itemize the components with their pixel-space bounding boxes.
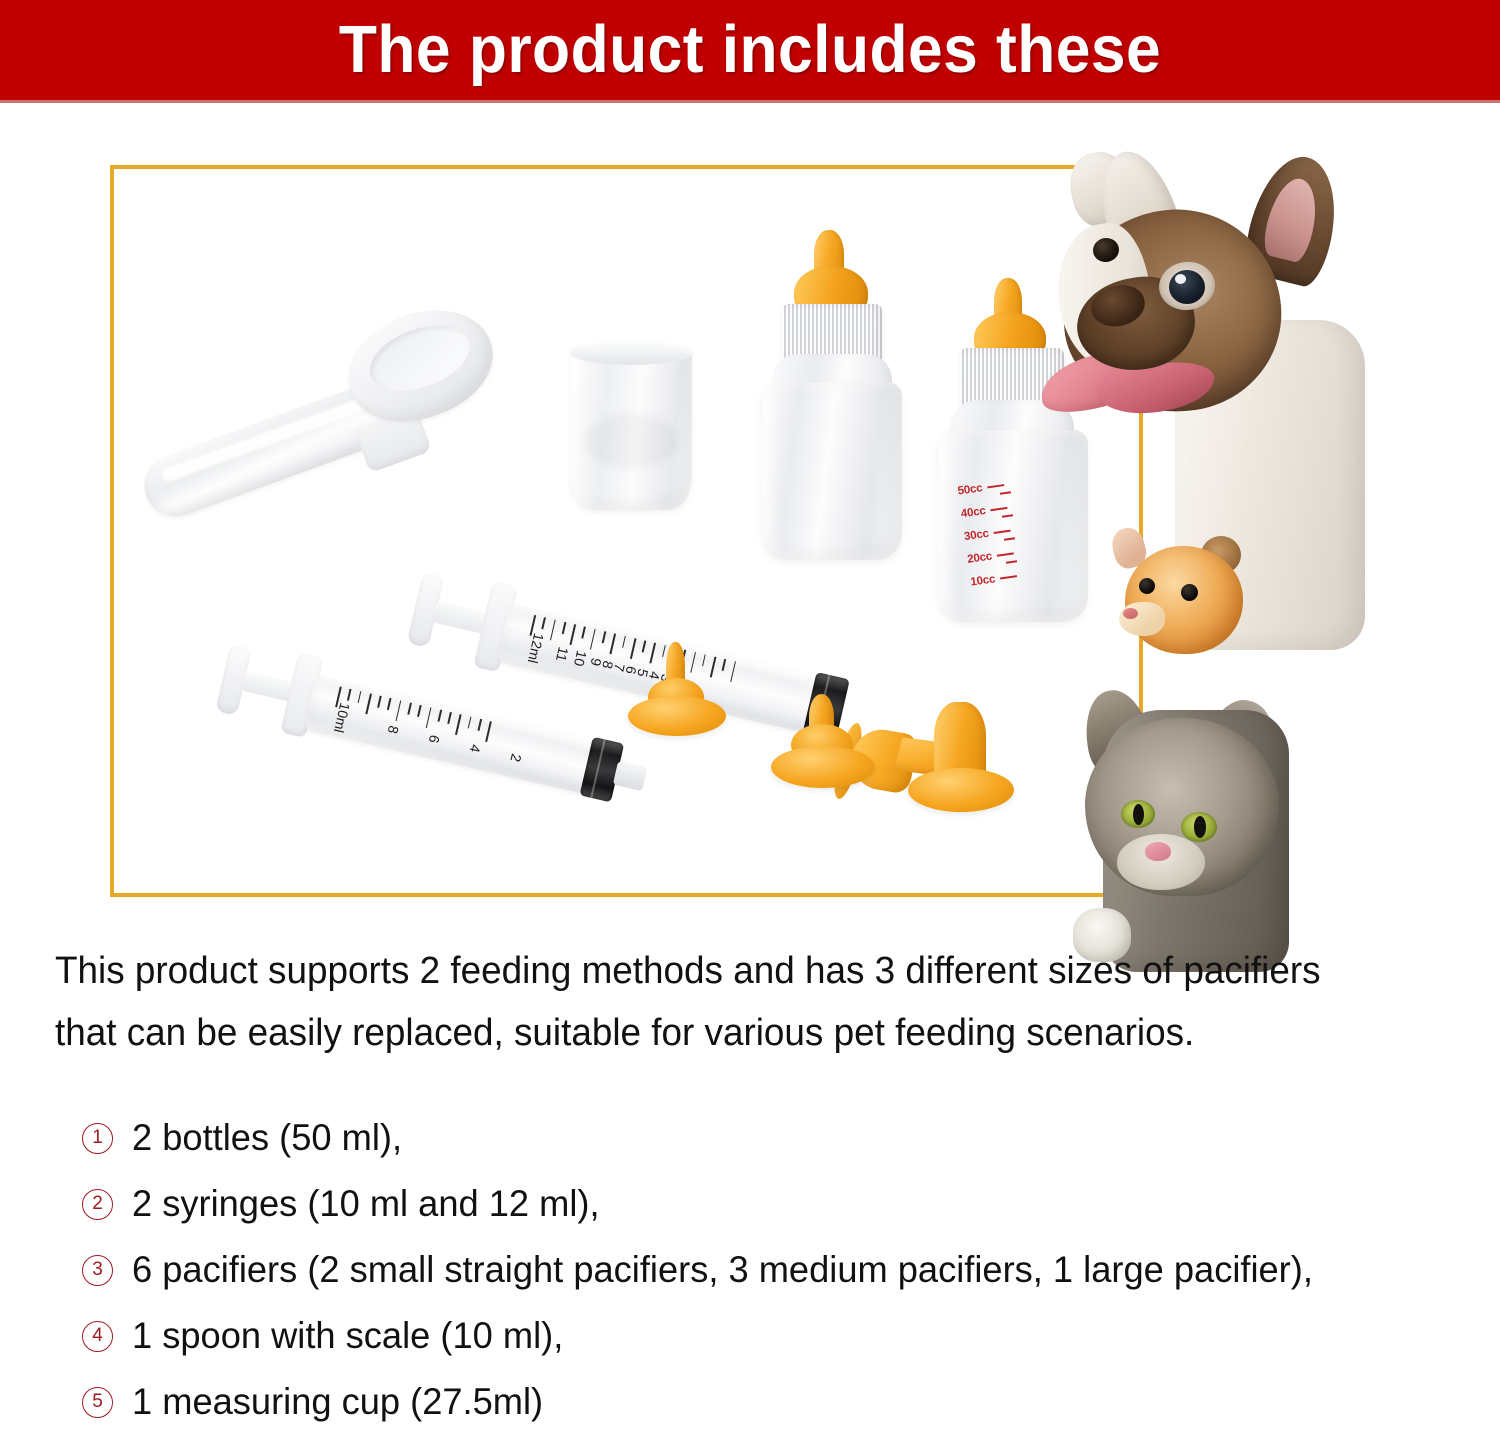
dog-eye-glint — [1175, 274, 1186, 284]
product-photo-frame — [110, 165, 1143, 897]
list-item: 3 6 pacifiers (2 small straight pacifier… — [82, 1237, 1482, 1303]
page-title: The product includes these — [53, 0, 1448, 100]
pet-photo-group — [1055, 150, 1500, 910]
item-label: 1 spoon with scale (10 ml), — [132, 1315, 563, 1357]
description-line-1: This product supports 2 feeding methods … — [55, 940, 1413, 1002]
dog-eye — [1169, 270, 1205, 304]
item-number-badge: 2 — [82, 1189, 113, 1220]
item-number-badge: 5 — [82, 1387, 113, 1418]
header-banner: The product includes these — [0, 0, 1500, 100]
item-label: 2 bottles (50 ml), — [132, 1117, 402, 1159]
cat-pupil-right — [1194, 816, 1206, 838]
item-number-badge: 4 — [82, 1321, 113, 1352]
list-item: 2 2 syringes (10 ml and 12 ml), — [82, 1171, 1482, 1237]
list-item: 4 1 spoon with scale (10 ml), — [82, 1303, 1482, 1369]
item-number-badge: 1 — [82, 1123, 113, 1154]
item-label: 6 pacifiers (2 small straight pacifiers,… — [132, 1249, 1313, 1291]
item-label: 2 syringes (10 ml and 12 ml), — [132, 1183, 600, 1225]
hamster-eye-right — [1181, 584, 1198, 601]
hamster-eye-left — [1139, 578, 1155, 594]
hamster-head — [1125, 546, 1243, 654]
list-item: 1 2 bottles (50 ml), — [82, 1105, 1482, 1171]
item-label: 1 measuring cup (27.5ml) — [132, 1381, 543, 1423]
cat-pupil-left — [1133, 804, 1144, 825]
hamster-nose — [1123, 608, 1138, 619]
list-item: 5 1 measuring cup (27.5ml) — [82, 1369, 1482, 1435]
item-number-badge: 3 — [82, 1255, 113, 1286]
hamster-snout — [1119, 602, 1165, 636]
description-text: This product supports 2 feeding methods … — [55, 940, 1413, 1064]
description-line-2: that can be easily replaced, suitable fo… — [55, 1002, 1413, 1064]
cat-nose — [1145, 842, 1171, 861]
included-items-list: 1 2 bottles (50 ml), 2 2 syringes (10 ml… — [82, 1105, 1482, 1435]
